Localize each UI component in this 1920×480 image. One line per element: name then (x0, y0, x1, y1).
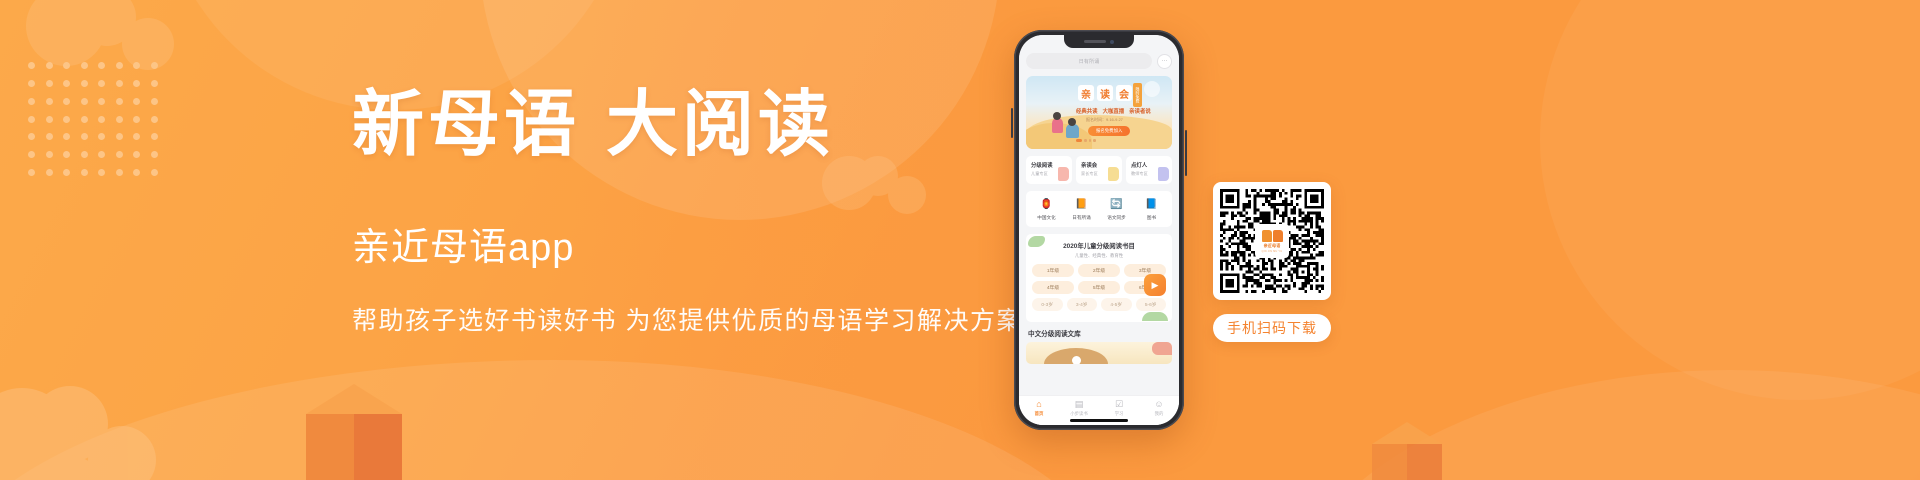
hero-subtitle: 经典共读 大咖直播 亲读者说 (1076, 107, 1151, 115)
hero-date-text: 报名时间：9.16-9.27 (1086, 117, 1123, 123)
age-chip[interactable]: 4-5岁 (1101, 298, 1132, 311)
decor-cloud-bottom-left (0, 366, 200, 480)
phone-notch (1064, 35, 1134, 48)
decor-cloud-top-left (26, 0, 196, 76)
decor-dot-grid (28, 62, 168, 187)
decor-dot (1072, 356, 1081, 364)
quick-link-label: 中国文化 (1037, 215, 1055, 221)
logo-pinyin: QIN JIN MU YU (1262, 250, 1283, 253)
sun-icon (1144, 81, 1160, 97)
quick-link-textbook-sync[interactable]: 🔄 语文同步 (1104, 198, 1130, 221)
category-card-graded-reading[interactable]: 分级阅读 儿童专区 (1026, 156, 1072, 184)
illustration-child-2-head (1068, 118, 1076, 126)
decor-tab (1152, 342, 1172, 355)
promo-banner: 新母语大阅读 亲近母语app 帮助孩子选好书读好书 为您提供优质的母语学习解决方… (0, 0, 1920, 480)
quick-link-daily-recitation[interactable]: 📙 日有所诵 (1069, 198, 1095, 221)
search-placeholder: 日有所诵 (1079, 58, 1100, 65)
category-card-parent-reading[interactable]: 亲读会 家长专区 (1076, 156, 1122, 184)
hero-subtitle-item: 亲读者说 (1129, 107, 1151, 115)
grade-chip[interactable]: 1年级 (1032, 264, 1074, 277)
tab-label: 首页 (1035, 411, 1044, 417)
leaf-decoration-icon (1142, 312, 1168, 321)
tab-label: 学习 (1115, 411, 1124, 417)
phone-screen: 日有所诵 ··· 亲 读 会 (1019, 35, 1179, 425)
carousel-dots[interactable] (1076, 139, 1096, 142)
decor-cube-left (306, 384, 402, 480)
booklist-section: 2020年儿童分级阅读书目 儿童性、经典性、教育性 1年级 2年级 3年级 4年… (1026, 234, 1172, 322)
book-logo-icon (1262, 230, 1283, 242)
decor-glow-right (1540, 0, 1920, 400)
app-name-subtitle: 亲近母语app (352, 216, 1032, 271)
age-chip[interactable]: 0-3岁 (1032, 298, 1063, 311)
age-chip[interactable]: 5-6岁 (1136, 298, 1167, 311)
quick-links-row: 🏮 中国文化 📙 日有所诵 🔄 语文同步 📘 图书 (1026, 191, 1172, 227)
book-icon (1108, 167, 1119, 181)
tab-reading[interactable]: ▤ 小步读书 (1062, 400, 1096, 417)
tab-profile[interactable]: ☺ 我的 (1142, 400, 1176, 417)
booklist-title: 2020年儿童分级阅读书目 (1032, 241, 1166, 250)
hero-subtitle-item: 经典共读 (1076, 107, 1098, 115)
decor-cube-right (1372, 422, 1442, 480)
illustration-child-1-head (1053, 112, 1061, 120)
lantern-icon: 🏮 (1040, 198, 1053, 212)
camera-icon (1110, 40, 1114, 44)
hero-banner[interactable]: 亲 读 会 限时免费 经典共读 大咖直播 亲读者说 报名时间：9.16-9.27… (1026, 76, 1172, 149)
qr-download-block: 亲近母语 QIN JIN MU YU 手机扫码下载 (1213, 182, 1331, 342)
app-search-row: 日有所诵 ··· (1026, 53, 1172, 69)
search-input[interactable]: 日有所诵 (1026, 53, 1152, 69)
grade-chip[interactable]: 5年级 (1078, 281, 1120, 294)
tab-home[interactable]: ⌂ 首页 (1022, 400, 1056, 417)
sync-icon: 🔄 (1110, 198, 1123, 212)
hero-subtitle-item: 大咖直播 (1103, 107, 1125, 115)
home-indicator (1070, 419, 1128, 422)
grade-chip[interactable]: 4年级 (1032, 281, 1074, 294)
hero-title-char: 亲 (1078, 85, 1094, 101)
home-icon: ⌂ (1036, 400, 1041, 409)
qr-code-box[interactable]: 亲近母语 QIN JIN MU YU (1213, 182, 1331, 300)
books-icon: 📘 (1145, 198, 1158, 212)
quick-link-label: 图书 (1147, 215, 1156, 221)
headline-part-2: 大阅读 (606, 85, 834, 165)
book-icon (1158, 167, 1169, 181)
banner-tagline: 帮助孩子选好书读好书 为您提供优质的母语学习解决方案 (352, 301, 1032, 337)
speaker-icon (1084, 40, 1106, 43)
quick-link-label: 日有所诵 (1072, 215, 1090, 221)
hero-title-char: 读 (1097, 85, 1113, 101)
library-section-title: 中文分级阅读文库 (1028, 328, 1170, 338)
tab-label: 小步读书 (1070, 411, 1088, 417)
quick-link-label: 语文同步 (1107, 215, 1125, 221)
page-title: 新母语大阅读 (352, 88, 1032, 164)
illustration-child-2 (1066, 124, 1079, 138)
play-video-button[interactable]: ▶ (1144, 274, 1166, 296)
book-icon (1058, 167, 1069, 181)
quick-link-chinese-culture[interactable]: 🏮 中国文化 (1034, 198, 1060, 221)
hero-title-char: 会 (1116, 85, 1132, 101)
grade-chip[interactable]: 2年级 (1078, 264, 1120, 277)
booklist-subtitle: 儿童性、经典性、教育性 (1032, 253, 1166, 259)
qr-center-logo: 亲近母语 QIN JIN MU YU (1255, 224, 1289, 258)
library-card[interactable] (1026, 342, 1172, 364)
qr-code: 亲近母语 QIN JIN MU YU (1220, 189, 1324, 293)
age-chip[interactable]: 3-4岁 (1067, 298, 1098, 311)
download-button[interactable]: 手机扫码下载 (1213, 314, 1331, 342)
tab-label: 我的 (1155, 411, 1164, 417)
category-cards: 分级阅读 儿童专区 亲读会 家长专区 点灯人 教师专区 (1026, 156, 1172, 184)
hero-title: 亲 读 会 (1078, 85, 1132, 101)
logo-name: 亲近母语 (1264, 243, 1281, 249)
tab-study[interactable]: ☑ 学习 (1102, 400, 1136, 417)
category-card-teacher[interactable]: 点灯人 教师专区 (1126, 156, 1172, 184)
user-icon: ☺ (1154, 400, 1163, 409)
quick-link-books[interactable]: 📘 图书 (1139, 198, 1165, 221)
age-chips-row: 0-3岁 3-4岁 4-5岁 5-6岁 (1032, 298, 1166, 311)
message-icon[interactable]: ··· (1157, 54, 1172, 69)
banner-copy: 新母语大阅读 亲近母语app 帮助孩子选好书读好书 为您提供优质的母语学习解决方… (352, 88, 1032, 337)
app-content: 日有所诵 ··· 亲 读 会 (1019, 35, 1179, 425)
phone-mockup: 日有所诵 ··· 亲 读 会 (1014, 30, 1184, 430)
hero-ribbon-badge: 限时免费 (1133, 83, 1142, 107)
list-icon: ▤ (1075, 400, 1084, 409)
headline-part-1: 新母语 (352, 85, 580, 165)
hero-signup-button[interactable]: 报名免费加入 (1088, 126, 1130, 136)
book-orange-icon: 📙 (1075, 198, 1088, 212)
checklist-icon: ☑ (1115, 400, 1123, 409)
illustration-child-1 (1052, 118, 1063, 133)
